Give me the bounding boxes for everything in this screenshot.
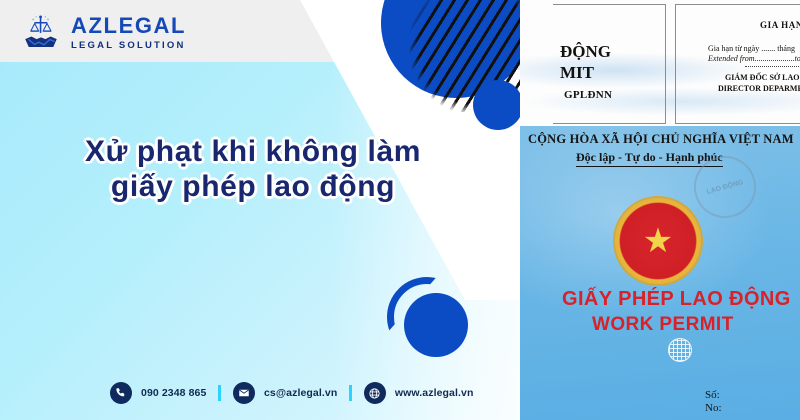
contact-phone-text: 090 2348 865 (141, 387, 206, 399)
contact-bar: 090 2348 865 cs@azlegal.vn www.azlegal. (110, 382, 473, 404)
page-title-line2: giấy phép lao động (18, 169, 488, 204)
contact-divider-1 (218, 385, 221, 401)
blue-circle-shape-bottom (404, 293, 468, 357)
brand-logo[interactable]: AZLEGAL LEGAL SOLUTION (20, 12, 186, 54)
work-permit-photo: ĐỘNG MIT GPLĐNN GIA HẠN Gia hạn từ ngày … (520, 0, 800, 420)
contact-website[interactable]: www.azlegal.vn (364, 382, 474, 404)
permit-title-vi: GIẤY PHÉP LAO ĐỘNG (562, 288, 791, 311)
permit-republic-line: CỘNG HÒA XÃ HỘI CHỦ NGHĨA VIỆT NAM (528, 132, 794, 147)
contact-email[interactable]: cs@azlegal.vn (233, 382, 337, 404)
permit-director-vi: GIÁM ĐỐC SỞ LAO Đ (725, 73, 800, 82)
brand-name: AZLEGAL (71, 15, 186, 37)
permit-text-dong: ĐỘNG (560, 42, 611, 62)
brand-tagline: LEGAL SOLUTION (71, 41, 186, 51)
page-title-line1: Xử phạt khi không làm (18, 134, 488, 169)
banner: ĐỘNG MIT GPLĐNN GIA HẠN Gia hạn từ ngày … (0, 0, 800, 420)
page-title: Xử phạt khi không làm giấy phép lao động (18, 134, 488, 205)
permit-extend-en: Extended from....................to... (708, 54, 800, 63)
contact-phone[interactable]: 090 2348 865 (110, 382, 206, 404)
vietnam-emblem-icon: ★ (615, 198, 701, 284)
contact-divider-2 (349, 385, 352, 401)
permit-extend-vi: Gia hạn từ ngày ....... tháng (708, 44, 795, 53)
permit-blue-card: CỘNG HÒA XÃ HỘI CHỦ NGHĨA VIỆT NAM Độc l… (520, 126, 800, 420)
permit-dotted-line (745, 66, 800, 67)
permit-text-code: GPLĐNN (564, 89, 612, 101)
permit-text-mit: MIT (560, 63, 594, 83)
blue-circle-shape-top (473, 80, 523, 130)
brand-logo-text: AZLEGAL LEGAL SOLUTION (71, 15, 186, 51)
scales-handshake-icon (20, 12, 62, 54)
contact-website-text: www.azlegal.vn (395, 387, 474, 399)
globe-icon (364, 382, 386, 404)
contact-email-text: cs@azlegal.vn (264, 387, 337, 399)
envelope-icon (233, 382, 255, 404)
permit-motto-line: Độc lập - Tự do - Hạnh phúc (576, 150, 723, 167)
permit-number-vi: Số: (705, 389, 720, 401)
permit-number-en: No: (705, 402, 722, 414)
security-seal-icon (668, 338, 692, 362)
phone-icon (110, 382, 132, 404)
emblem-star-icon: ★ (643, 224, 673, 258)
permit-title-en: WORK PERMIT (592, 314, 734, 336)
permit-extend-heading: GIA HẠN (760, 20, 800, 30)
permit-director-en: DIRECTOR DEPARMEN (718, 84, 800, 93)
permit-top-sheet: ĐỘNG MIT GPLĐNN GIA HẠN Gia hạn từ ngày … (520, 0, 800, 128)
